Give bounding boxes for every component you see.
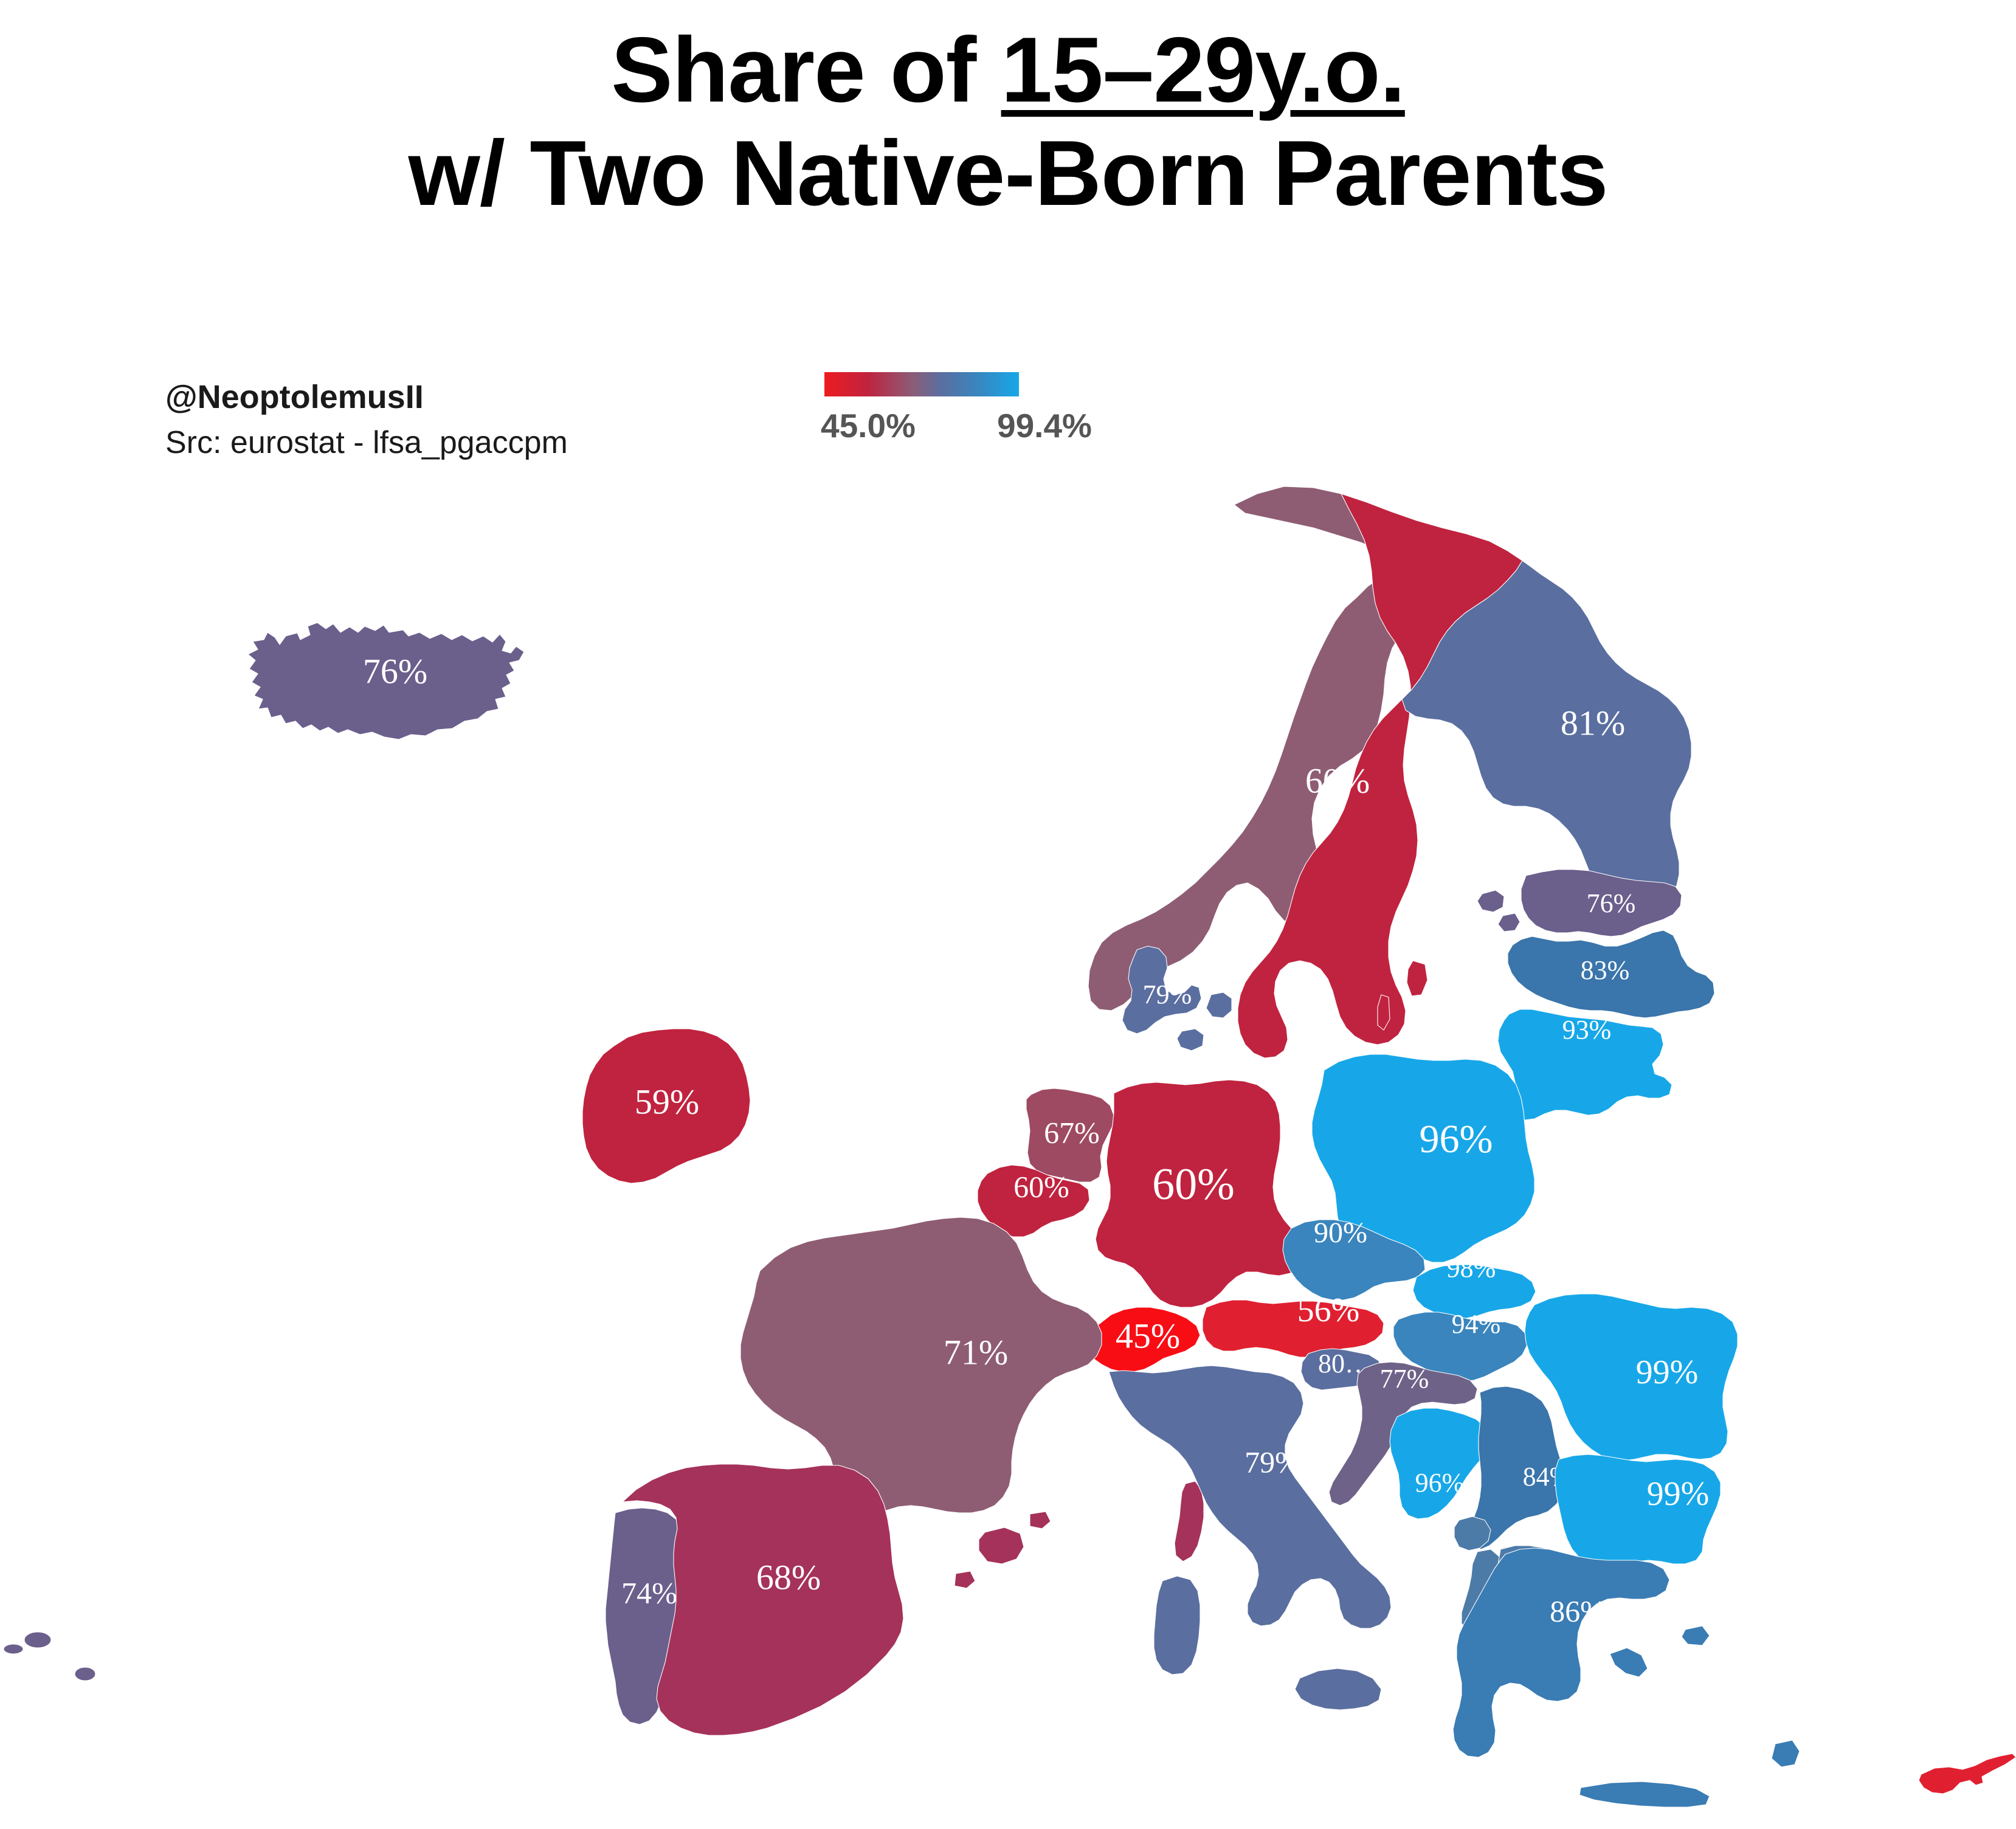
island-gotland bbox=[1407, 961, 1427, 996]
map-label-romania: 99% bbox=[1636, 1354, 1699, 1391]
map-label-denmark: 79% bbox=[1143, 980, 1192, 1009]
page-title: Share of 15–29y.o. w/ Two Native-Born Pa… bbox=[0, 18, 2016, 225]
map-label-france: 71% bbox=[944, 1332, 1008, 1372]
map-label-croatia: 77% bbox=[1380, 1364, 1429, 1394]
title-line-1: Share of 15–29y.o. bbox=[0, 18, 2016, 122]
map-label-ireland: 59% bbox=[635, 1082, 699, 1121]
map-label-bosnia: 96% bbox=[1415, 1468, 1465, 1498]
map-label-bulgaria: 99% bbox=[1647, 1475, 1710, 1513]
legend-max-label: 99.4% bbox=[997, 406, 1092, 445]
map-label-latvia: 83% bbox=[1581, 955, 1630, 985]
island-sardinia bbox=[1154, 1576, 1200, 1675]
map-label-greece: 86% bbox=[1550, 1594, 1606, 1628]
map-label-germany: 60% bbox=[1152, 1160, 1235, 1209]
country-iceland[interactable]: 76% bbox=[248, 623, 524, 739]
country-austria[interactable]: 56% bbox=[1203, 1291, 1384, 1357]
credit-block: @NeoptolemusII Src: eurostat - lfsa_pgac… bbox=[165, 377, 568, 463]
title-line-2: w/ Two Native-Born Parents bbox=[0, 122, 2016, 225]
island-euboea bbox=[1610, 1648, 1648, 1677]
map-label-poland: 96% bbox=[1420, 1117, 1493, 1161]
island-madeira bbox=[24, 1632, 51, 1648]
map-label-netherlands: 67% bbox=[1044, 1115, 1100, 1149]
country-bosnia[interactable]: 96% bbox=[1390, 1408, 1490, 1519]
legend-labels: 45.0% 99.4% bbox=[821, 406, 1125, 445]
country-lithuania[interactable]: 93% bbox=[1498, 1009, 1672, 1120]
country-shape-cyprus[interactable] bbox=[1919, 1754, 2016, 1794]
author-handle: @NeoptolemusII bbox=[165, 377, 568, 418]
island-corsica bbox=[1175, 1481, 1204, 1561]
island-ibiza bbox=[954, 1571, 975, 1588]
map-label-switzerland: 45% bbox=[1116, 1316, 1180, 1355]
map-label-hungary: 94% bbox=[1452, 1309, 1501, 1339]
map-label-finland: 81% bbox=[1561, 703, 1625, 742]
island-lesbos bbox=[1682, 1626, 1710, 1645]
country-latvia[interactable]: 83% bbox=[1508, 930, 1714, 1018]
country-cyprus[interactable] bbox=[1919, 1754, 2016, 1794]
map-label-slovakia: 98% bbox=[1447, 1253, 1496, 1283]
map-label-norway: 70% bbox=[1172, 761, 1236, 800]
country-bulgaria[interactable]: 99% bbox=[1555, 1454, 1721, 1568]
island-crete bbox=[1579, 1782, 1710, 1807]
map-label-iceland: 76% bbox=[363, 651, 427, 691]
map-label-sweden: 60% bbox=[1305, 761, 1370, 800]
island-malta bbox=[1355, 1728, 1368, 1740]
country-netherlands[interactable]: 67% bbox=[1026, 1088, 1114, 1182]
map-label-lithuania: 93% bbox=[1562, 1015, 1612, 1045]
country-ireland[interactable]: 59% bbox=[582, 1029, 750, 1183]
map-label-belgium: 60% bbox=[1013, 1169, 1069, 1203]
island-rhodes bbox=[1772, 1740, 1800, 1767]
island-sicily bbox=[1295, 1668, 1381, 1710]
country-portugal-islands bbox=[4, 1632, 95, 1681]
europe-choropleth-map: 76% 70% 60% 81% 79% bbox=[0, 0, 2016, 1829]
legend: 45.0% 99.4% bbox=[821, 372, 1125, 445]
map-label-italy: 79% bbox=[1244, 1445, 1300, 1479]
title-age-range: 15–29y.o. bbox=[1001, 18, 1405, 122]
island-azores-1 bbox=[75, 1667, 95, 1681]
country-romania[interactable]: 99% bbox=[1525, 1294, 1738, 1461]
country-shape-romania[interactable] bbox=[1525, 1294, 1738, 1461]
map-label-spain: 68% bbox=[756, 1557, 821, 1597]
map-label-estonia: 76% bbox=[1587, 888, 1636, 918]
legend-gradient-bar bbox=[824, 372, 1019, 396]
island-mallorca bbox=[979, 1527, 1024, 1564]
legend-min-label: 45.0% bbox=[821, 406, 997, 445]
island-azores-2 bbox=[4, 1644, 23, 1654]
title-prefix: Share of bbox=[611, 18, 1001, 122]
map-container: 76% 70% 60% 81% 79% bbox=[0, 0, 2016, 1829]
country-germany[interactable]: 60% bbox=[1096, 1080, 1303, 1307]
map-label-austria: 56% bbox=[1297, 1291, 1360, 1329]
data-source: Src: eurostat - lfsa_pgaccpm bbox=[165, 423, 568, 463]
country-slovakia[interactable]: 98% bbox=[1413, 1253, 1536, 1318]
country-shape-bosnia[interactable] bbox=[1390, 1408, 1490, 1519]
map-label-portugal: 74% bbox=[621, 1575, 677, 1609]
map-label-czechia: 90% bbox=[1314, 1217, 1367, 1249]
island-menorca bbox=[1030, 1512, 1051, 1529]
